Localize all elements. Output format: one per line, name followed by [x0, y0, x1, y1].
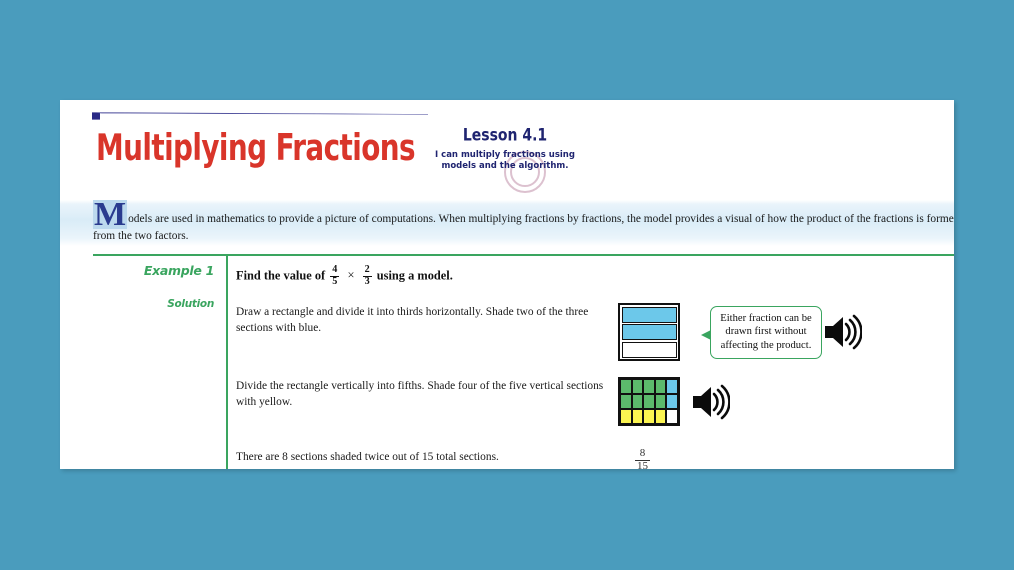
solution-conclusion: There are 8 sections shaded twice out of… [236, 448, 954, 469]
problem-suffix: using a model. [377, 268, 453, 282]
model-grid-cell-overlap [655, 379, 667, 394]
worksheet-page: Multiplying Fractions Lesson 4.1 I can m… [60, 100, 954, 469]
model-grid-row [620, 394, 678, 409]
factor-two-fraction: 2 3 [363, 265, 372, 287]
example-label-column: Example 1 Solution [93, 256, 226, 310]
swoosh-svg [90, 112, 430, 120]
factor-one-fraction: 4 5 [330, 265, 339, 287]
step-2-visual [618, 377, 730, 426]
page-header: Multiplying Fractions Lesson 4.1 I can m… [60, 100, 954, 200]
solution-step-2: Divide the rectangle vertically into fif… [236, 377, 954, 426]
step-2-text: Divide the rectangle vertically into fif… [236, 377, 618, 410]
model-grid-cell-yellow [655, 409, 667, 424]
answer-fraction: 8 15 [633, 448, 652, 469]
model-grid-cell-overlap [643, 379, 655, 394]
speaker-icon[interactable] [690, 382, 730, 422]
drop-cap: M [93, 200, 127, 229]
conclusion-text: There are 8 sections shaded twice out of… [236, 448, 618, 465]
page-title: Multiplying Fractions [96, 126, 415, 169]
model-grid-cell-blue [666, 379, 678, 394]
intro-line-1: odels are used in mathematics to provide… [93, 200, 936, 227]
problem-statement: Find the value of 4 5 × 2 3 using a mode… [236, 262, 954, 287]
model-grid-cell-yellow [632, 409, 644, 424]
example-section: Example 1 Solution Find the value of 4 5… [60, 256, 954, 469]
model-grid-cell-overlap [632, 394, 644, 409]
intro-paragraph: M odels are used in mathematics to provi… [60, 200, 954, 246]
model-thirds-band-3 [622, 342, 677, 358]
model-grid-cell-overlap [655, 394, 667, 409]
answer-denominator: 15 [635, 460, 650, 469]
title-swoosh-decoration [90, 112, 430, 120]
model-grid-cell-yellow [643, 409, 655, 424]
speaker-icon[interactable] [822, 312, 862, 352]
model-thirds [618, 303, 680, 361]
factor-two-numerator: 2 [363, 265, 372, 276]
model-grid-row [620, 409, 678, 424]
factor-one-numerator: 4 [330, 265, 339, 276]
callout-pointer [701, 330, 711, 340]
answer-fraction-value: 8 15 [635, 448, 650, 469]
step-1-text: Draw a rectangle and divide it into thir… [236, 303, 618, 336]
model-grid [618, 377, 680, 426]
factor-one-denominator: 5 [330, 276, 339, 288]
example-label: Example 1 [93, 263, 214, 278]
model-thirds-band-2 [622, 324, 677, 340]
lesson-objective-stamp: I can multiply fractions using models an… [430, 150, 580, 172]
model-grid-cell-blue [666, 394, 678, 409]
model-grid-cell-overlap [620, 379, 632, 394]
model-grid-cell-overlap [620, 394, 632, 409]
model-grid-cell-yellow [620, 409, 632, 424]
intro-line-2: from the two factors. [93, 229, 936, 244]
callout-text: Either fraction can be drawn first witho… [710, 306, 822, 359]
model-grid-row [620, 379, 678, 394]
problem-prefix: Find the value of [236, 268, 325, 282]
answer-numerator: 8 [635, 448, 650, 460]
model-grid-cell-overlap [643, 394, 655, 409]
factor-two-denominator: 3 [363, 276, 372, 288]
lesson-number: Lesson 4.1 [445, 126, 565, 145]
model-grid-cell-empty [666, 409, 678, 424]
model-grid-cell-overlap [632, 379, 644, 394]
callout-tip: Either fraction can be drawn first witho… [710, 306, 822, 359]
multiplication-symbol: × [347, 268, 354, 282]
solution-step-1: Draw a rectangle and divide it into thir… [236, 303, 954, 361]
example-content: Find the value of 4 5 × 2 3 using a mode… [226, 256, 954, 469]
model-thirds-band-1 [622, 307, 677, 323]
solution-label: Solution [93, 298, 214, 310]
lesson-objective-text: I can multiply fractions using models an… [430, 150, 580, 172]
step-1-visual: Either fraction can be drawn first witho… [618, 303, 862, 361]
